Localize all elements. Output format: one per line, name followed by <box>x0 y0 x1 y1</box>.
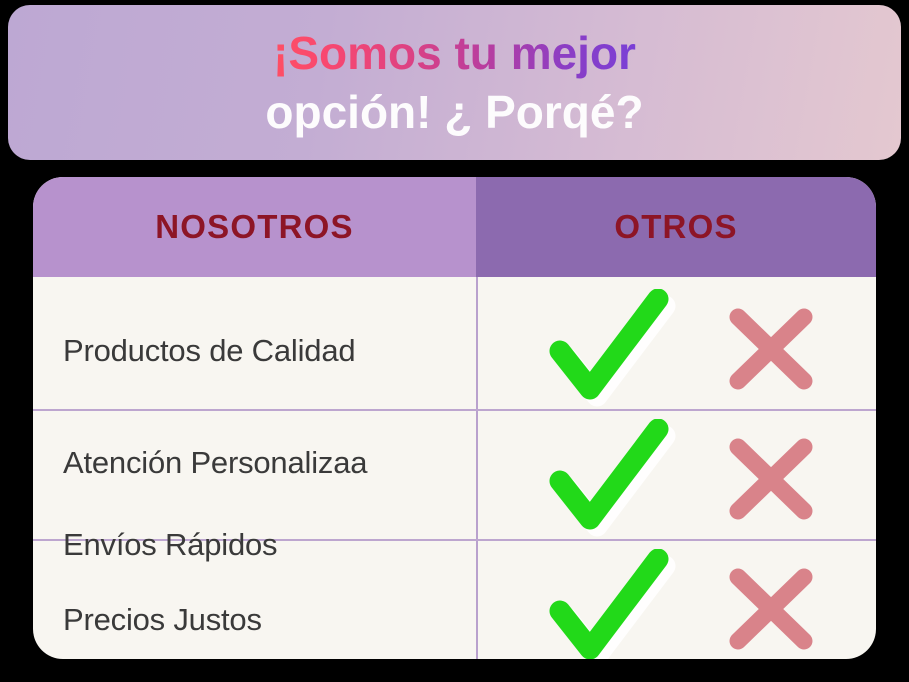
title-line-secondary: opción! ¿ Porqé? <box>265 83 643 142</box>
title-banner: ¡Somos tu mejor opción! ¿ Porqé? <box>8 5 901 160</box>
feature-label: Productos de Calidad <box>63 333 473 369</box>
checkmark-icon <box>546 289 676 409</box>
comparison-table: NOSOTROS OTROS Productos de Calidad Aten… <box>33 177 876 659</box>
cross-icon <box>726 567 816 651</box>
mark-row <box>476 289 876 409</box>
table-body: Productos de Calidad Atención Personaliz… <box>33 277 876 659</box>
feature-label: Precios Justos <box>63 602 473 638</box>
column-header-us-label: NOSOTROS <box>155 208 353 246</box>
cross-icon <box>726 307 816 391</box>
column-header-us: NOSOTROS <box>33 177 476 277</box>
checkmark-icon <box>546 419 676 539</box>
table-header-row: NOSOTROS OTROS <box>33 177 876 277</box>
checkmark-icon <box>546 549 676 659</box>
feature-label: Envíos Rápidos <box>63 527 473 563</box>
column-header-them-label: OTROS <box>614 208 737 246</box>
cross-icon <box>726 437 816 521</box>
column-header-them: OTROS <box>476 177 876 277</box>
feature-label: Atención Personalizaa <box>63 445 473 481</box>
mark-row <box>476 549 876 659</box>
row-divider <box>33 409 876 411</box>
mark-row <box>476 419 876 539</box>
title-line-primary: ¡Somos tu mejor <box>273 24 636 83</box>
